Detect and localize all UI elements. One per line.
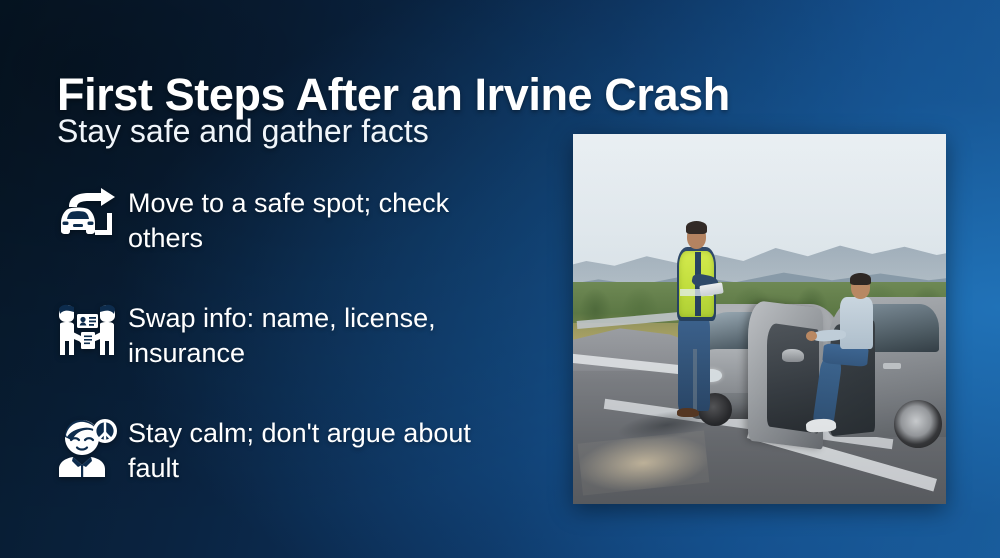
slide-canvas: First Steps After an Irvine Crash Stay s…: [0, 0, 1000, 558]
photo-seated-man-hair: [850, 273, 871, 285]
bullet-list: Move to a safe spot; check others: [50, 184, 520, 485]
list-item-label: Stay calm; don't argue about fault: [128, 414, 520, 485]
photo-vest-man-leg-gap: [693, 349, 697, 412]
car-move-arrow-icon: [50, 184, 128, 248]
roadside-exchange-photo: [573, 134, 946, 504]
calm-person-peace-icon: [50, 414, 128, 478]
exchange-information-icon: [50, 299, 128, 363]
page-subtitle: Stay safe and gather facts: [57, 113, 429, 150]
photo-seated-man-shoe: [806, 418, 837, 433]
list-item-label: Move to a safe spot; check others: [128, 184, 520, 255]
photo-seated-man-torso: [840, 297, 874, 349]
photo-vest-man-hair: [686, 221, 708, 234]
list-item-label: Swap info: name, license, insurance: [128, 299, 520, 370]
photo-vest-man-shoe: [677, 408, 699, 418]
list-item: Stay calm; don't argue about fault: [50, 414, 520, 485]
photo-right-car-handle: [883, 363, 902, 369]
photo-side-mirror: [782, 349, 804, 362]
photo-content: [573, 134, 946, 504]
list-item: Move to a safe spot; check others: [50, 184, 520, 255]
list-item: Swap info: name, license, insurance: [50, 299, 520, 370]
